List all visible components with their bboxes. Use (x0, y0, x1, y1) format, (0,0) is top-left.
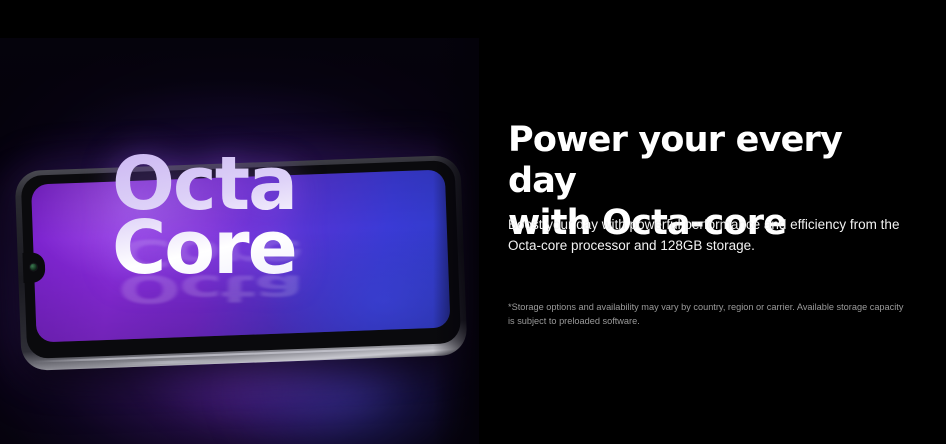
hero-image-panel: Octa Core Octa Core (0, 38, 479, 444)
panel-right-fade (433, 38, 479, 444)
disclaimer-text: *Storage options and availability may va… (508, 301, 904, 329)
octa-core-wordmark: Octa Core (112, 150, 412, 282)
copy-column: Power your every day with Octa-core Boos… (508, 0, 912, 444)
promo-banner: Octa Core Octa Core Power your every day… (0, 0, 946, 444)
panel-top-fade (0, 38, 479, 98)
wordmark-line2: Core (112, 214, 412, 282)
headline-line1: Power your every day (508, 120, 842, 201)
body-paragraph: Boost your day with powerful performance… (508, 215, 900, 257)
